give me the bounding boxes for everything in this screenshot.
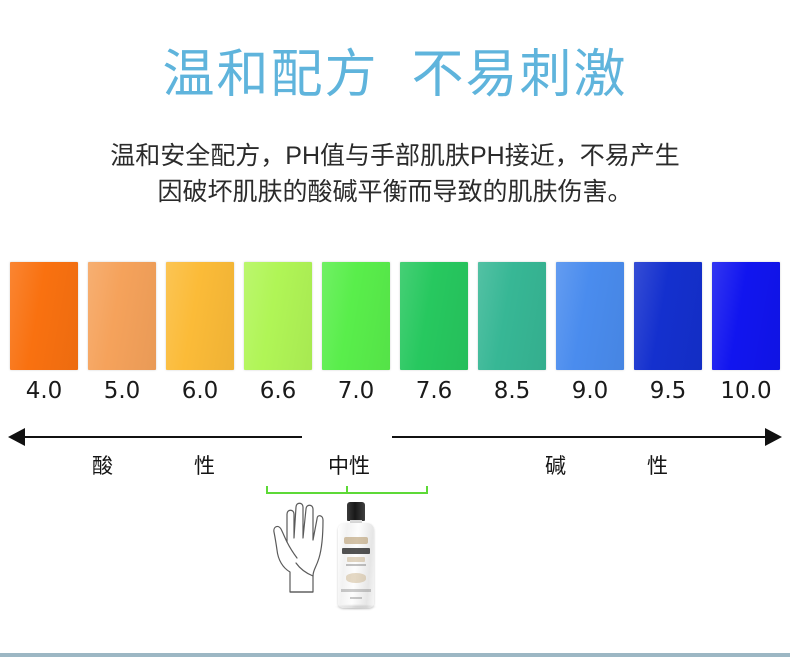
swatch-cell bbox=[478, 262, 546, 370]
subtitle-line-2: 因破坏肌肤的酸碱平衡而导致的肌肤伤害。 bbox=[45, 174, 745, 210]
bottle-subtitle-text bbox=[347, 557, 365, 562]
hand-outline-icon bbox=[270, 500, 332, 596]
subtitle-line-1: 温和安全配方，PH值与手部肌肤PH接近，不易产生 bbox=[110, 142, 679, 170]
ph-label: 7.6 bbox=[400, 378, 468, 406]
bottom-accent-bar bbox=[0, 653, 790, 657]
bottle-body bbox=[338, 523, 374, 608]
ph-label: 4.0 bbox=[10, 378, 78, 406]
bottle-volume-text bbox=[350, 597, 362, 599]
bottle-fineprint-text bbox=[346, 564, 366, 566]
neutral-range-bracket bbox=[266, 486, 428, 496]
ph-axis bbox=[0, 424, 790, 450]
arrow-right-icon bbox=[765, 428, 782, 446]
ph-label: 8.5 bbox=[478, 378, 546, 406]
ph-swatch-7-0 bbox=[322, 262, 390, 370]
ph-label: 9.0 bbox=[556, 378, 624, 406]
swatch-cell bbox=[400, 262, 468, 370]
bracket-tick-left bbox=[266, 486, 268, 494]
ph-swatch-6-0 bbox=[166, 262, 234, 370]
arrow-left-icon bbox=[8, 428, 25, 446]
ph-swatch-4-0 bbox=[10, 262, 78, 370]
bottle-label-artwork bbox=[346, 573, 366, 583]
ph-label: 6.0 bbox=[166, 378, 234, 406]
page-title: 温和配方 不易刺激 bbox=[0, 44, 790, 106]
zone-label-acidic-2: 性 bbox=[194, 450, 215, 480]
zone-label-acidic-1: 酸 bbox=[92, 450, 113, 480]
ph-value-labels: 4.0 5.0 6.0 6.6 7.0 7.6 8.5 9.0 9.5 10.0 bbox=[10, 378, 780, 406]
ph-swatch-5-0 bbox=[88, 262, 156, 370]
zone-label-alkaline-2: 性 bbox=[647, 450, 668, 480]
ph-swatch-10-0 bbox=[712, 262, 780, 370]
ph-swatch-9-0 bbox=[556, 262, 624, 370]
axis-line-acidic bbox=[24, 436, 302, 438]
ph-infographic-page: 温和配方 不易刺激 温和安全配方，PH值与手部肌肤PH接近，不易产生 因破坏肌肤… bbox=[0, 0, 790, 657]
ph-swatch-6-6 bbox=[244, 262, 312, 370]
bottle-footer-text bbox=[341, 589, 371, 592]
swatch-cell bbox=[556, 262, 624, 370]
bracket-tick-center bbox=[346, 486, 348, 494]
bottle-cap bbox=[347, 502, 365, 521]
ph-swatch-9-5 bbox=[634, 262, 702, 370]
swatch-cell bbox=[244, 262, 312, 370]
ph-swatch-8-5 bbox=[478, 262, 546, 370]
ph-swatch-7-6 bbox=[400, 262, 468, 370]
ph-label: 5.0 bbox=[88, 378, 156, 406]
zone-label-neutral: 中性 bbox=[328, 450, 370, 480]
page-subtitle: 温和安全配方，PH值与手部肌肤PH接近，不易产生 因破坏肌肤的酸碱平衡而导致的肌… bbox=[45, 138, 745, 210]
axis-line-alkaline bbox=[392, 436, 766, 438]
ph-label: 6.6 bbox=[244, 378, 312, 406]
swatch-cell bbox=[88, 262, 156, 370]
zone-label-alkaline-1: 碱 bbox=[545, 450, 566, 480]
bottle-brand-logo bbox=[344, 537, 368, 544]
ph-label: 9.5 bbox=[634, 378, 702, 406]
swatch-cell bbox=[712, 262, 780, 370]
bracket-tick-right bbox=[426, 486, 428, 494]
swatch-cell bbox=[10, 262, 78, 370]
product-illustration bbox=[270, 498, 410, 610]
bottle-product-name bbox=[342, 548, 370, 554]
swatch-cell bbox=[634, 262, 702, 370]
lotion-bottle-icon bbox=[338, 502, 374, 608]
ph-label: 10.0 bbox=[712, 378, 780, 406]
ph-zone-labels: 酸 性 中性 碱 性 bbox=[0, 450, 790, 484]
ph-color-scale bbox=[10, 262, 780, 370]
swatch-cell bbox=[166, 262, 234, 370]
bottle-shadow bbox=[334, 604, 378, 610]
swatch-cell bbox=[322, 262, 390, 370]
ph-label: 7.0 bbox=[322, 378, 390, 406]
